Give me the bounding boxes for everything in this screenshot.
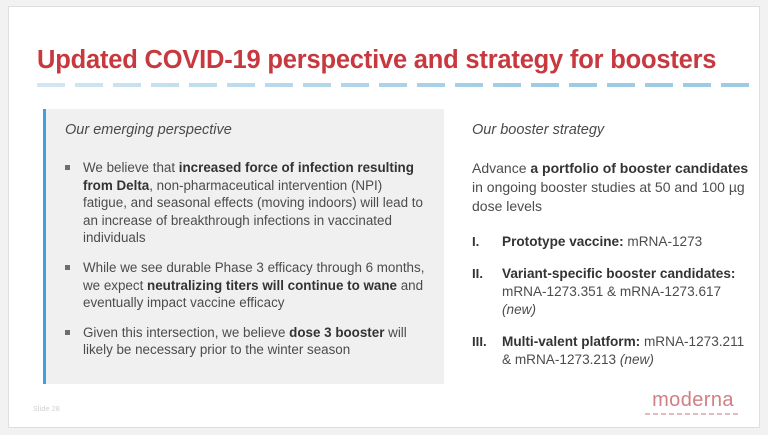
list-item: III.Multi-valent platform: mRNA-1273.211… xyxy=(472,333,750,369)
square-bullet-icon xyxy=(65,265,70,270)
booster-candidate-list: I.Prototype vaccine: mRNA-1273II.Variant… xyxy=(472,233,750,369)
left-bullet-list: We believe that increased force of infec… xyxy=(63,159,428,359)
body-text: mRNA-1273 xyxy=(624,234,703,249)
body-text: Advance xyxy=(472,160,530,176)
list-item: While we see durable Phase 3 efficacy th… xyxy=(63,259,428,312)
moderna-logo: moderna xyxy=(645,390,741,415)
italic-note: (new) xyxy=(502,302,536,317)
title-divider-dashed xyxy=(37,83,760,87)
right-panel-heading: Our booster strategy xyxy=(472,122,604,138)
emphasis-text: Variant-specific booster candidates: xyxy=(502,266,735,281)
slide-canvas: Updated COVID-19 perspective and strateg… xyxy=(8,6,760,428)
booster-strategy-intro: Advance a portfolio of booster candidate… xyxy=(472,159,750,216)
body-text: mRNA-1273.351 & mRNA-1273.617 xyxy=(502,284,721,299)
emphasis-text: Multi-valent platform: xyxy=(502,334,640,349)
list-item: We believe that increased force of infec… xyxy=(63,159,428,247)
slide-number-label: Slide 28 xyxy=(33,406,60,413)
emphasis-text: Prototype vaccine: xyxy=(502,234,624,249)
list-item-numeral: II. xyxy=(472,265,498,283)
square-bullet-icon xyxy=(65,330,70,335)
page-title: Updated COVID-19 perspective and strateg… xyxy=(37,46,716,75)
list-item: I.Prototype vaccine: mRNA-1273 xyxy=(472,233,750,251)
list-item-numeral: I. xyxy=(472,233,498,251)
moderna-logo-dashed-rule xyxy=(645,413,741,415)
right-column: Advance a portfolio of booster candidate… xyxy=(472,159,750,369)
left-panel-accent-bar xyxy=(43,109,46,384)
body-text: We believe that xyxy=(83,160,179,175)
moderna-logo-wordmark: moderna xyxy=(645,390,741,411)
title-divider-fade xyxy=(37,83,760,87)
square-bullet-icon xyxy=(65,165,70,170)
body-text: Given this intersection, we believe xyxy=(83,325,289,340)
list-item: II.Variant-specific booster candidates: … xyxy=(472,265,750,319)
italic-note: (new) xyxy=(620,352,654,367)
emphasis-text: dose 3 booster xyxy=(289,325,384,340)
list-item: Given this intersection, we believe dose… xyxy=(63,324,428,359)
list-item-numeral: III. xyxy=(472,333,498,351)
body-text: in ongoing booster studies at 50 and 100… xyxy=(472,179,745,214)
left-panel-heading: Our emerging perspective xyxy=(65,122,232,138)
emphasis-text: neutralizing titers will continue to wan… xyxy=(147,278,397,293)
emphasis-text: a portfolio of booster candidates xyxy=(530,160,748,176)
